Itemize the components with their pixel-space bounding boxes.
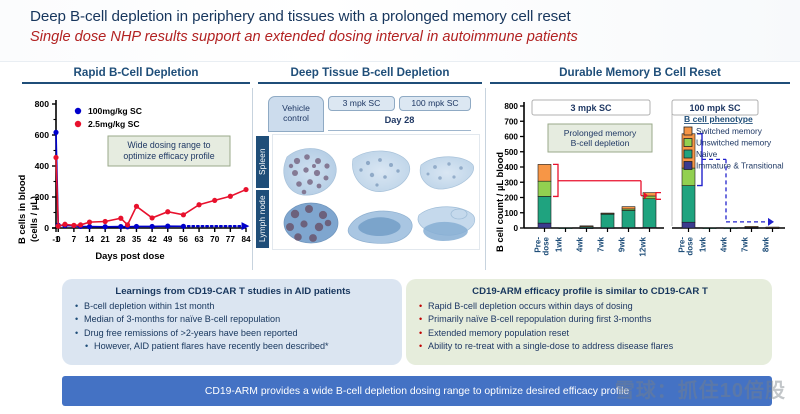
panel-header-label: Deep Tissue B-cell Depletion [258, 66, 482, 79]
svg-text:dose: dose [686, 236, 695, 255]
svg-text:800: 800 [504, 102, 518, 111]
panel-header-rapid-depletion: Rapid B-Cell Depletion [22, 66, 250, 84]
svg-text:9wk: 9wk [618, 236, 627, 252]
title-block: Deep B-cell depletion in periphery and t… [0, 0, 800, 62]
svg-text:1wk: 1wk [555, 236, 564, 252]
svg-text:12wk: 12wk [639, 236, 648, 256]
header-rule [22, 82, 250, 84]
lymph-node-3mpk [348, 211, 412, 243]
svg-text:dose: dose [542, 236, 551, 255]
svg-text:100: 100 [504, 209, 518, 218]
lymph-node-100mpk [418, 207, 475, 241]
list-item: Ability to re-treat with a single-dose t… [418, 340, 762, 353]
panel-divider-1 [252, 88, 253, 270]
banner-text: CD19-ARM provides a wide B-cell depletio… [205, 386, 629, 397]
page-subtitle: Single dose NHP results support an exten… [30, 28, 800, 47]
svg-text:7wk: 7wk [597, 236, 606, 252]
svg-text:Prolonged memory: Prolonged memory [564, 128, 637, 138]
panel-header-label: Rapid B-Cell Depletion [22, 66, 250, 79]
svg-text:84: 84 [241, 235, 251, 244]
summary-left-list: B-cell depletion within 1st month Median… [74, 300, 392, 354]
svg-text:49: 49 [163, 235, 173, 244]
svg-text:4wk: 4wk [576, 236, 585, 252]
summary-box-cart-learnings: Learnings from CD19-CAR T studies in AID… [62, 279, 402, 365]
svg-text:7: 7 [72, 235, 77, 244]
histology-grid [272, 134, 480, 250]
page-title: Deep B-cell depletion in periphery and t… [30, 7, 800, 26]
header-rule [258, 82, 482, 84]
svg-text:300: 300 [504, 178, 518, 187]
svg-text:200: 200 [504, 194, 518, 203]
svg-text:Unswitched memory: Unswitched memory [696, 138, 772, 148]
svg-text:B-cell depletion: B-cell depletion [571, 138, 630, 148]
spleen-3mpk [352, 151, 409, 192]
svg-text:8wk: 8wk [762, 236, 771, 252]
line-chart-canvas: 0200400600800-10714212835424956637077841… [8, 92, 252, 270]
svg-text:400: 400 [504, 163, 518, 172]
svg-text:0: 0 [44, 223, 49, 233]
svg-text:Naive: Naive [696, 149, 718, 159]
svg-text:400: 400 [35, 161, 50, 171]
tissue-col-label: 3 mpk SC [343, 99, 381, 109]
panel-header-label: Durable Memory B Cell Reset [490, 66, 790, 79]
svg-text:3 mpk SC: 3 mpk SC [570, 103, 612, 113]
svg-text:42: 42 [148, 235, 158, 244]
list-item: B-cell depletion within 1st month [74, 300, 392, 313]
svg-text:35: 35 [132, 235, 142, 244]
svg-text:Switched memory: Switched memory [696, 126, 763, 136]
tissue-row-spleen: Spleen [256, 136, 269, 188]
svg-text:70: 70 [210, 235, 220, 244]
svg-text:Immature & Transitional: Immature & Transitional [696, 161, 784, 171]
list-item: However, AID patient flares have recentl… [74, 340, 392, 353]
x-axis-title-line: Days post dose [8, 250, 252, 261]
summary-box-cd19-arm-efficacy: CD19-ARM efficacy profile is similar to … [406, 279, 772, 365]
svg-text:0: 0 [56, 235, 61, 244]
tissue-image-panel: Vehicle control 3 mpk SC 100 mpk SC Day … [256, 92, 484, 270]
panel-header-memory-reset: Durable Memory B Cell Reset [490, 66, 790, 84]
lymph-node-vehicle-control [284, 203, 338, 243]
tissue-col-3mpk: 3 mpk SC [328, 96, 395, 111]
header-rule [490, 82, 790, 84]
svg-text:63: 63 [195, 235, 205, 244]
svg-text:200: 200 [35, 192, 50, 202]
svg-text:600: 600 [35, 130, 50, 140]
svg-text:77: 77 [226, 235, 236, 244]
tissue-row-label: Spleen [258, 149, 267, 176]
svg-text:800: 800 [35, 99, 50, 109]
svg-text:Wide dosing range to: Wide dosing range to [127, 140, 210, 150]
line-chart-b-cells-blood: B cells in blood (cells / µL) 0200400600… [8, 92, 252, 270]
histology-svg [273, 135, 479, 249]
svg-text:4wk: 4wk [720, 236, 729, 252]
tissue-col-100mpk: 100 mpk SC [399, 96, 471, 111]
panel-divider-2 [485, 88, 486, 270]
spleen-100mpk [420, 157, 473, 189]
tissue-col-label: 100 mpk SC [411, 99, 458, 109]
svg-text:B cell phenotype: B cell phenotype [684, 114, 753, 124]
svg-text:1wk: 1wk [699, 236, 708, 252]
list-item: Median of 3-months for naïve B-cell repo… [74, 313, 392, 326]
svg-text:2.5mg/kg SC: 2.5mg/kg SC [88, 119, 140, 129]
svg-text:600: 600 [504, 133, 518, 142]
tissue-day-label: Day 28 [328, 115, 471, 125]
tissue-day-rule [328, 130, 471, 131]
svg-text:56: 56 [179, 235, 189, 244]
svg-text:500: 500 [504, 148, 518, 157]
svg-text:100 mpk SC: 100 mpk SC [689, 103, 741, 113]
bar-chart-canvas: 0100200300400500600700800Pre-dose1wk4wk7… [488, 92, 796, 270]
list-item: Extended memory population reset [418, 327, 762, 340]
summary-right-list: Rapid B-cell depletion occurs within day… [418, 300, 762, 354]
summary-left-heading: Learnings from CD19-CAR T studies in AID… [74, 286, 392, 297]
list-item: Rapid B-cell depletion occurs within day… [418, 300, 762, 313]
bar-chart-memory-reset: B cell count / µL blood 0100200300400500… [488, 92, 796, 270]
list-item: Drug free remissions of >2-years have be… [74, 327, 392, 340]
svg-text:14: 14 [85, 235, 95, 244]
bottom-banner: CD19-ARM provides a wide B-cell depletio… [62, 376, 772, 406]
tissue-col-vehicle-control: Vehicle control [268, 96, 324, 132]
tissue-row-lymph-node: Lymph node [256, 190, 269, 248]
svg-text:28: 28 [116, 235, 126, 244]
svg-text:0: 0 [513, 224, 518, 233]
tissue-col-label: Vehicle control [269, 104, 323, 124]
svg-text:700: 700 [504, 117, 518, 126]
spleen-vehicle-control [284, 148, 336, 195]
panel-header-deep-tissue: Deep Tissue B-cell Depletion [258, 66, 482, 84]
slide-root: Deep B-cell depletion in periphery and t… [0, 0, 800, 414]
list-item: Primarily naïve B-cell repopulation duri… [418, 313, 762, 326]
svg-text:100mg/kg SC: 100mg/kg SC [88, 106, 142, 116]
svg-text:21: 21 [101, 235, 111, 244]
svg-text:7wk: 7wk [741, 236, 750, 252]
tissue-row-label: Lymph node [258, 196, 267, 243]
summary-right-heading: CD19-ARM efficacy profile is similar to … [418, 286, 762, 297]
svg-text:optimize efficacy profile: optimize efficacy profile [123, 151, 214, 161]
